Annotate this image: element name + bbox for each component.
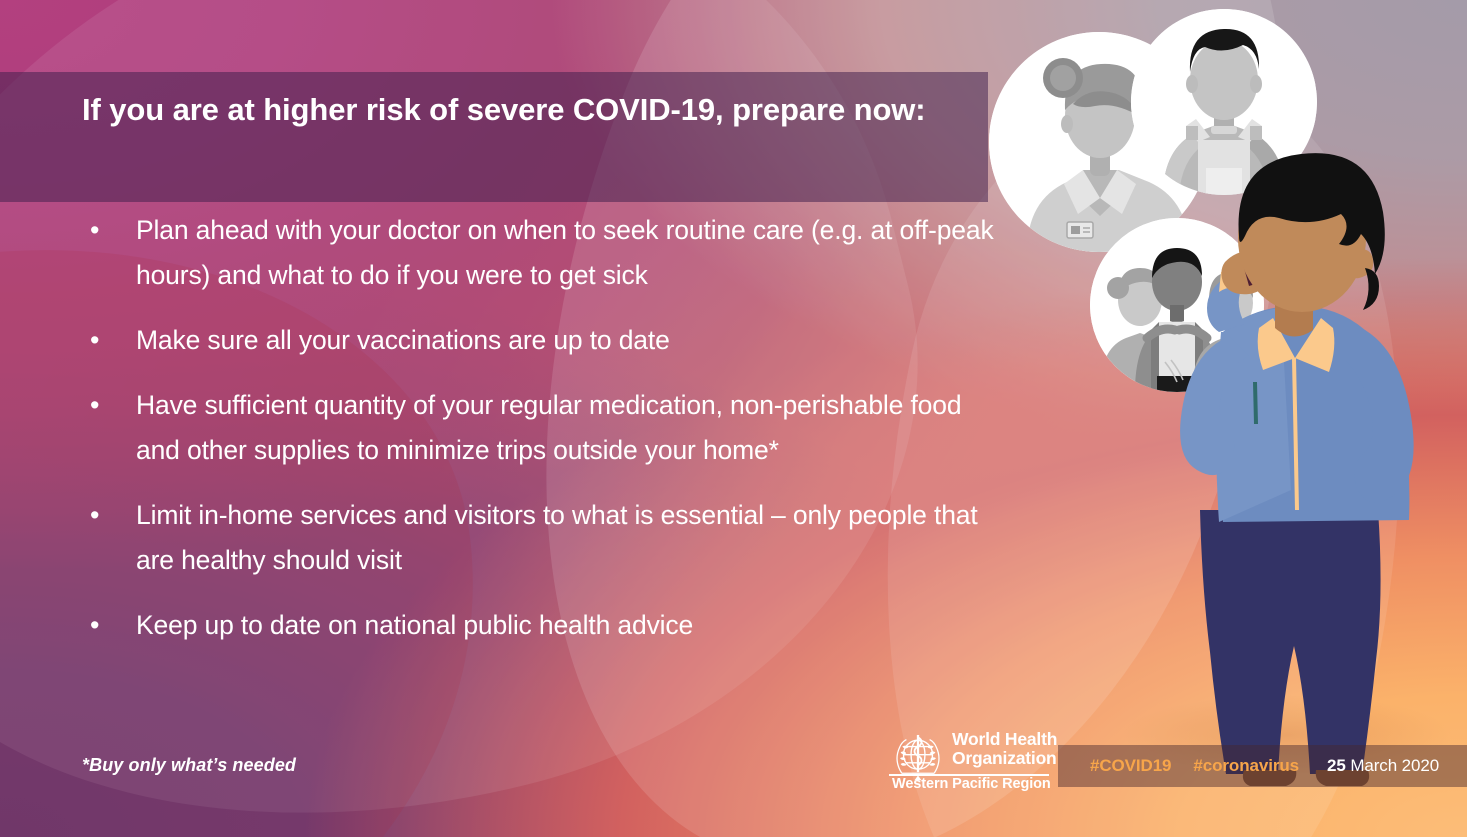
hashtag-covid19[interactable]: #COVID19 [1090, 756, 1171, 776]
hashtag-coronavirus[interactable]: #coronavirus [1193, 756, 1299, 776]
bullet-marker-icon: • [80, 208, 136, 298]
bullet-marker-icon: • [80, 603, 136, 648]
who-name-line1: World Health [952, 730, 1057, 749]
bullet-text: Plan ahead with your doctor on when to s… [136, 208, 1000, 298]
bullet-marker-icon: • [80, 383, 136, 473]
page-title: If you are at higher risk of severe COVI… [82, 88, 962, 132]
bullet-marker-icon: • [80, 493, 136, 583]
who-name-line2: Organization [952, 749, 1057, 768]
list-item: • Make sure all your vaccinations are up… [80, 318, 1000, 363]
publication-date: 25 March 2020 [1327, 756, 1439, 776]
hashtag-bar: #COVID19 #coronavirus 25 March 2020 [1058, 745, 1467, 787]
who-region-label: Western Pacific Region [892, 776, 1051, 792]
bullet-text: Make sure all your vaccinations are up t… [136, 318, 1000, 363]
bullet-text: Keep up to date on national public healt… [136, 603, 1000, 648]
advice-bullet-list: • Plan ahead with your doctor on when to… [80, 208, 1000, 668]
date-month-year: March 2020 [1346, 756, 1439, 775]
bullet-text: Limit in-home services and visitors to w… [136, 493, 1000, 583]
who-logo: World Health Organization Western Pacifi… [889, 726, 1054, 800]
poster-canvas: If you are at higher risk of severe COVI… [0, 0, 1467, 837]
bullet-marker-icon: • [80, 318, 136, 363]
list-item: • Have sufficient quantity of your regul… [80, 383, 1000, 473]
bullet-text: Have sufficient quantity of your regular… [136, 383, 1000, 473]
date-day: 25 [1327, 756, 1346, 775]
who-wordmark: World Health Organization [952, 726, 1057, 768]
list-item: • Keep up to date on national public hea… [80, 603, 1000, 648]
list-item: • Limit in-home services and visitors to… [80, 493, 1000, 583]
footnote-text: *Buy only what’s needed [82, 755, 296, 776]
list-item: • Plan ahead with your doctor on when to… [80, 208, 1000, 298]
illustration-group [987, 0, 1467, 837]
